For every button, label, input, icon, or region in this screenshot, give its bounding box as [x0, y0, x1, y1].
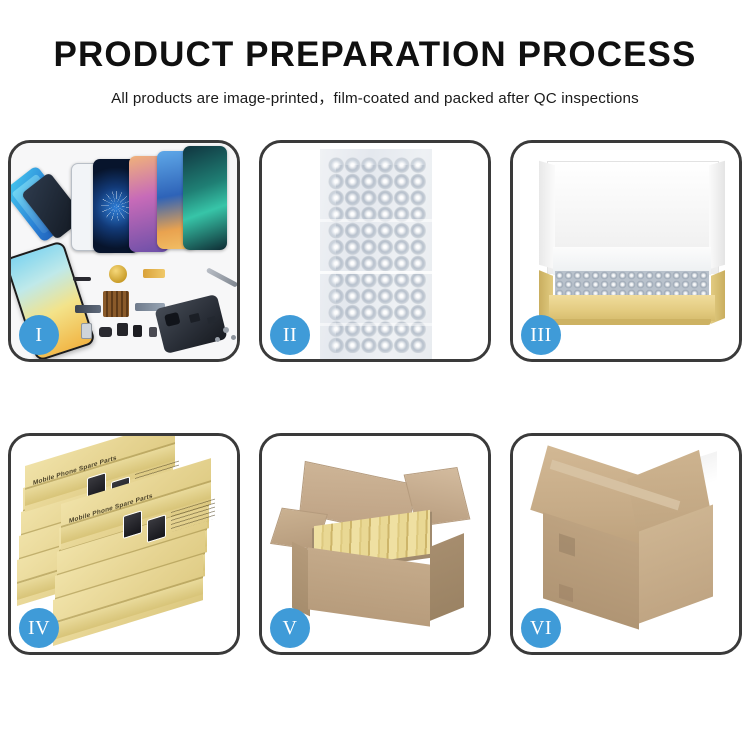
kraft-tray-bottom-edge: [553, 319, 711, 325]
screw-icon: [215, 337, 220, 342]
box-lid-flap-right: [709, 161, 725, 270]
speaker-part-icon: [73, 277, 91, 281]
product-preparation-infographic: PRODUCT PREPARATION PROCESS All products…: [0, 0, 750, 750]
back-cover-icon: [154, 294, 227, 354]
spare-parts-group: [73, 261, 237, 357]
step-badge-1: I: [19, 315, 59, 355]
chip-board-icon: [103, 291, 129, 317]
sim-tray-icon: [81, 323, 92, 339]
step-badge-6: VI: [521, 608, 561, 648]
phone-screen-teal-icon: [183, 146, 227, 250]
header: PRODUCT PREPARATION PROCESS All products…: [0, 0, 750, 108]
bubble-wrap-bubbles-back: [336, 165, 426, 353]
step-panel-4: Mobile Phone Spare Parts Mobile Phone Sp…: [8, 433, 240, 655]
small-module-icon: [117, 323, 128, 336]
vibrator-motor-icon: [109, 265, 127, 283]
step-badge-5: V: [270, 608, 310, 648]
camera-module-icon: [99, 327, 112, 337]
carton-body-right: [430, 533, 464, 621]
kraft-tray-front-face: [549, 295, 715, 321]
bubble-wrapped-contents: [555, 271, 709, 297]
step-panel-3: III: [510, 140, 742, 362]
flex-cable-gold-icon: [143, 269, 165, 278]
small-module-2-icon: [133, 325, 142, 337]
step-panel-6: VI: [510, 433, 742, 655]
step-panel-5: V: [259, 433, 491, 655]
step-panel-1: I: [8, 140, 240, 362]
steps-grid: I II III: [8, 140, 742, 655]
page-title: PRODUCT PREPARATION PROCESS: [0, 0, 750, 75]
step-badge-3: III: [521, 315, 561, 355]
retail-box-top-front: Mobile Phone Spare Parts: [61, 504, 211, 526]
button-part-icon: [149, 327, 157, 337]
step-badge-4: IV: [19, 608, 59, 648]
screw-icon: [231, 335, 236, 340]
step-badge-2: II: [270, 315, 310, 355]
repair-tool-icon: [206, 267, 237, 287]
step-panel-2: II: [259, 140, 491, 362]
flex-cable-left-icon: [75, 305, 101, 313]
retail-box: [53, 600, 203, 622]
page-subtitle: All products are image-printed，film-coat…: [0, 75, 750, 108]
screw-icon: [223, 327, 229, 333]
bubble-wrap-seam: [320, 271, 432, 274]
